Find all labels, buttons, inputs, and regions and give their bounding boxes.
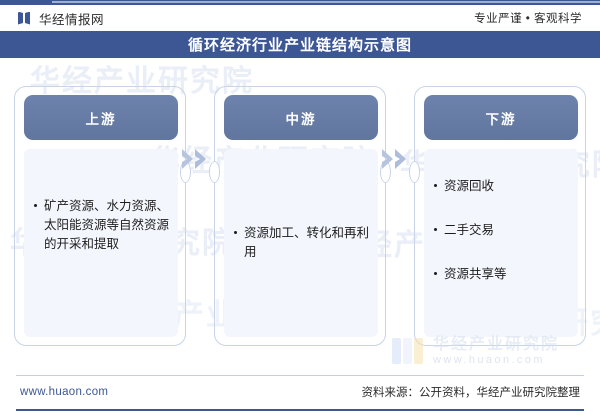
stage-bullet-list: 资源回收 二手交易 资源共享等 — [432, 177, 570, 309]
stage-bullet-list: 矿产资源、水力资源、太阳能资源等自然资源的开采和提取 — [32, 197, 170, 254]
huaon-book-icon — [392, 336, 426, 366]
stage-body-midstream: 资源加工、转化和再利用 — [224, 149, 378, 337]
watermark-logo-cn: 华经产业研究院 — [433, 336, 559, 354]
brand-group[interactable]: 华经情报网 — [18, 9, 104, 28]
footer: www.huaon.com 资料来源：公开资料，华经产业研究院整理 — [0, 375, 600, 415]
stage-header-midstream: 中游 — [224, 95, 378, 140]
stage-header-label: 下游 — [486, 108, 517, 128]
stage-body-downstream: 资源回收 二手交易 资源共享等 — [424, 149, 578, 337]
list-item: 二手交易 — [432, 221, 570, 239]
watermark-logo: 华经产业研究院 www.huaon.com — [392, 336, 559, 366]
chart-title-bar: 循环经济行业产业链结构示意图 — [0, 31, 600, 58]
list-item: 资源回收 — [432, 177, 570, 195]
footer-divider-bottom — [16, 409, 584, 411]
stage-header-upstream: 上游 — [24, 95, 178, 140]
stage-card-downstream[interactable]: 下游 资源回收 二手交易 资源共享等 — [414, 86, 586, 346]
huaon-logo-icon — [18, 12, 32, 25]
page-title: 循环经济行业产业链结构示意图 — [188, 34, 412, 55]
card-notch-left — [409, 161, 420, 183]
stage-header-label: 上游 — [86, 108, 117, 128]
list-item: 资源加工、转化和再利用 — [232, 224, 370, 262]
stage-bullet-list: 资源加工、转化和再利用 — [232, 224, 370, 262]
stage-card-midstream[interactable]: 中游 资源加工、转化和再利用 — [214, 86, 386, 346]
top-accent-bar-highlight — [52, 1, 600, 3]
footer-url[interactable]: www.huaon.com — [20, 386, 108, 398]
list-item: 矿产资源、水力资源、太阳能资源等自然资源的开采和提取 — [32, 197, 170, 254]
stage-card-upstream[interactable]: 上游 矿产资源、水力资源、太阳能资源等自然资源的开采和提取 — [14, 86, 186, 346]
footer-source: 资料来源：公开资料，华经产业研究院整理 — [362, 384, 581, 400]
stage-header-label: 中游 — [286, 108, 317, 128]
brand-row: 华经情报网 专业严谨 • 客观科学 — [0, 5, 600, 31]
stage-body-upstream: 矿产资源、水力资源、太阳能资源等自然资源的开采和提取 — [24, 149, 178, 337]
diagram-canvas: 华经产业研究院 华经产业研究院 华经产业研究院 华经产业研究院 华经产业研究院 … — [0, 58, 600, 375]
brand-tagline: 专业严谨 • 客观科学 — [474, 10, 582, 26]
list-item: 资源共享等 — [432, 265, 570, 283]
stage-header-downstream: 下游 — [424, 95, 578, 140]
brand-name: 华经情报网 — [39, 9, 104, 28]
card-notch-left — [209, 161, 220, 183]
watermark-logo-en: www.huaon.com — [433, 354, 559, 366]
